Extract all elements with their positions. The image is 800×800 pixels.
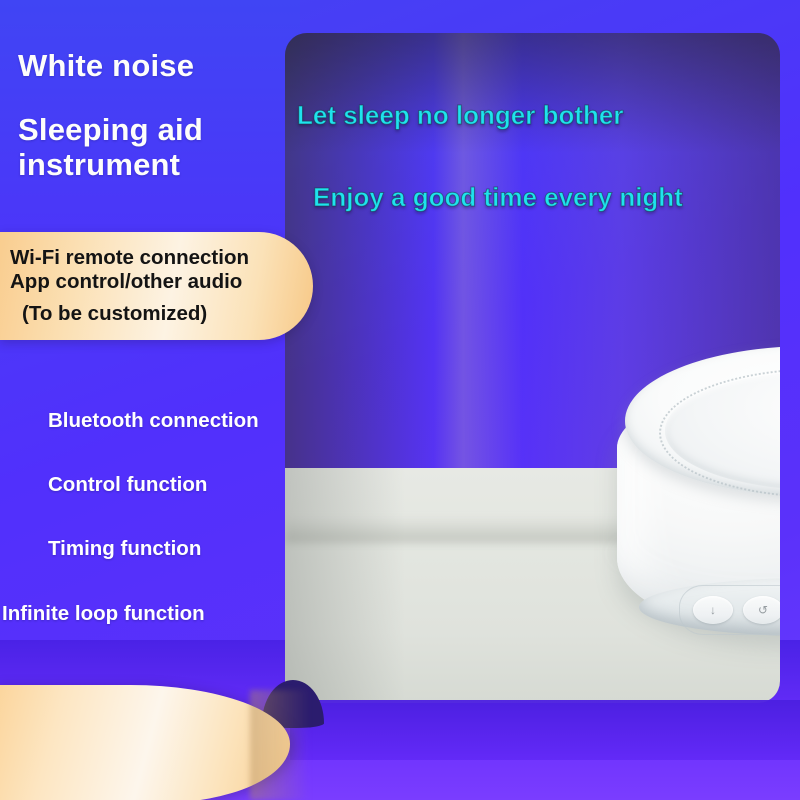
wifi-callout-box: Wi-Fi remote connection App control/othe…	[0, 232, 313, 340]
feature-timing-function: Timing function	[48, 537, 201, 561]
photo-headline-2: Enjoy a good time every night	[313, 182, 683, 213]
page-title-line1: White noise	[18, 48, 194, 84]
callout-line-2: App control/other audio	[0, 270, 313, 294]
page-title-line2: Sleeping aid instrument	[18, 113, 280, 182]
callout-line-3: (To be customized)	[0, 302, 313, 326]
loop-button[interactable]: ↺	[743, 596, 780, 624]
feature-bluetooth-connection: Bluetooth connection	[48, 409, 259, 433]
photo-top-shading	[285, 33, 780, 153]
feature-infinite-loop-function: Infinite loop function	[2, 602, 205, 626]
timer-button[interactable]: ↓	[693, 596, 733, 624]
page-curl-shadow	[250, 690, 310, 800]
device-button-row: ↓ ↺ ⏻ − ＋	[693, 590, 780, 630]
device-top-plate	[665, 372, 780, 490]
product-poster: ↓ ↺ ⏻ − ＋ White noise Sleeping aid instr…	[0, 0, 800, 800]
white-noise-machine: ↓ ↺ ⏻ − ＋	[615, 328, 780, 658]
product-photo-panel: ↓ ↺ ⏻ − ＋	[285, 33, 780, 703]
bottom-purple-band	[290, 700, 800, 760]
callout-line-1: Wi-Fi remote connection	[0, 246, 313, 270]
photo-headline-1: Let sleep no longer bother	[297, 100, 623, 131]
photo-table-left-shadow	[285, 468, 405, 703]
feature-control-function: Control function	[48, 473, 207, 497]
